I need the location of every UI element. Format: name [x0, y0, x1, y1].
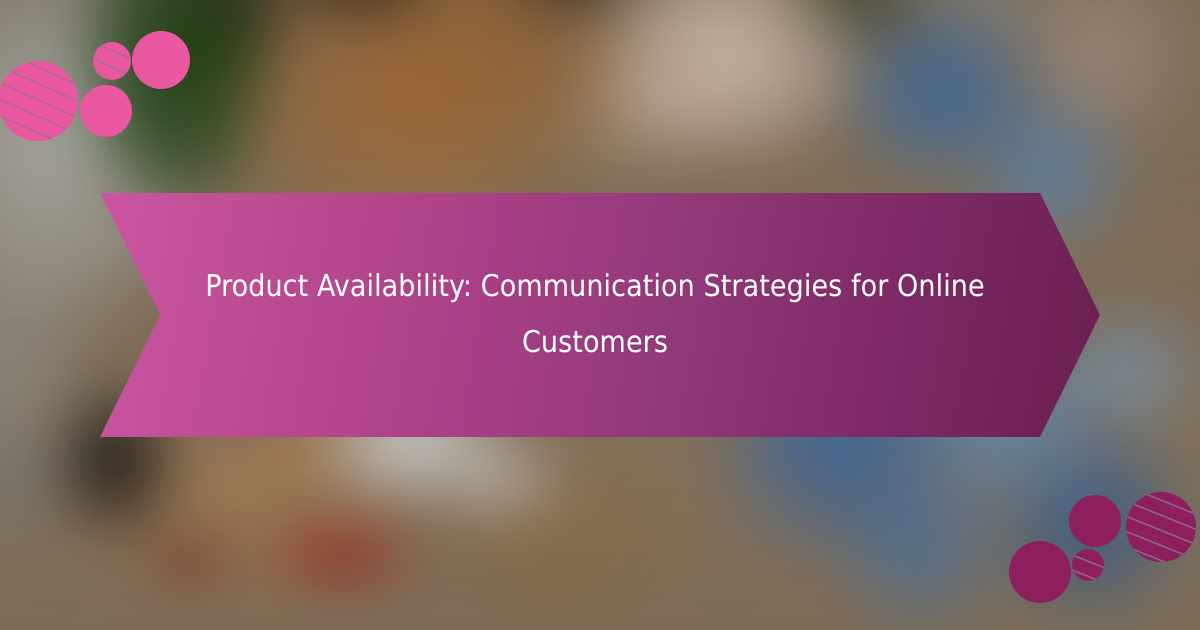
large-striped-circle	[1126, 492, 1196, 562]
decoration-circles-bottom-right-svg	[1000, 480, 1200, 630]
medium-plain-circle	[1009, 541, 1071, 603]
large-plain-circle	[1069, 495, 1121, 547]
title-ribbon: Product Availability: Communication Stra…	[100, 193, 1100, 437]
small-striped-circle	[1072, 549, 1104, 581]
banner-card: Product Availability: Communication Stra…	[0, 0, 1200, 630]
page-title: Product Availability: Communication Stra…	[195, 259, 995, 371]
